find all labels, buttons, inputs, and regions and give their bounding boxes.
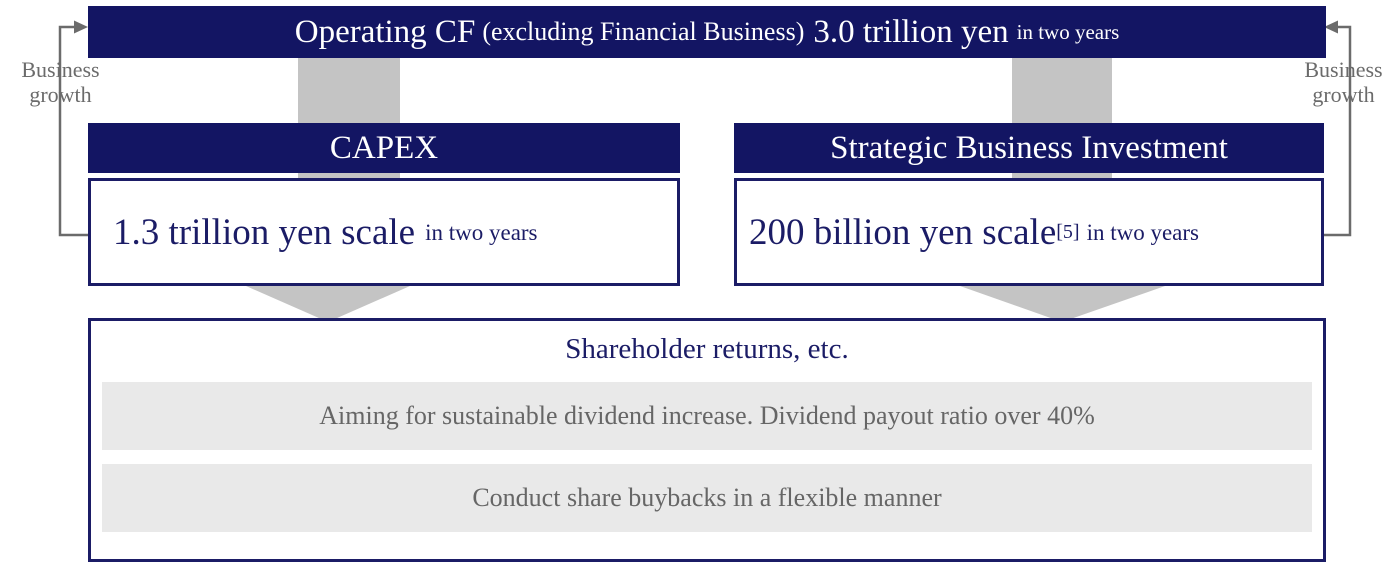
shareholder-returns-title: Shareholder returns, etc. [91,333,1323,366]
capex-amount: 1.3 trillion yen scale [113,214,415,251]
operating-cf-lead: Operating CF [295,16,476,49]
operating-cf-period: in two years [1017,22,1120,43]
strategic-investment-amount: 200 billion yen scale [749,214,1056,251]
strategic-investment-header-label: Strategic Business Investment [830,130,1228,167]
arrow-head [960,286,1165,322]
capex-value-box: 1.3 trillion yen scale in two years [88,178,680,286]
strategic-investment-value-box: 200 billion yen scale [5] in two years [734,178,1324,286]
business-growth-label-left-line1: Business [8,58,113,83]
business-growth-label-right-line1: Business [1291,58,1396,83]
operating-cf-paren: (excluding Financial Business) [482,19,804,45]
slide-canvas: Business growth Business growth Operatin… [0,0,1400,566]
arrow-head [246,286,410,322]
shareholder-returns-row: Aiming for sustainable dividend increase… [102,382,1312,450]
shareholder-returns-row: Conduct share buybacks in a flexible man… [102,464,1312,532]
operating-cf-bar: Operating CF (excluding Financial Busine… [88,6,1326,58]
capex-header-label: CAPEX [330,130,438,167]
shareholder-returns-box: Shareholder returns, etc. Aiming for sus… [88,318,1326,562]
business-growth-label-right: Business growth [1291,58,1396,107]
business-growth-label-left-line2: growth [8,83,113,108]
capex-period: in two years [425,221,537,244]
operating-cf-amount: 3.0 trillion yen [813,16,1008,49]
strategic-investment-header: Strategic Business Investment [734,123,1324,173]
business-growth-label-left: Business growth [8,58,113,107]
business-growth-label-right-line2: growth [1291,83,1396,108]
strategic-investment-period: in two years [1087,221,1199,244]
capex-header: CAPEX [88,123,680,173]
